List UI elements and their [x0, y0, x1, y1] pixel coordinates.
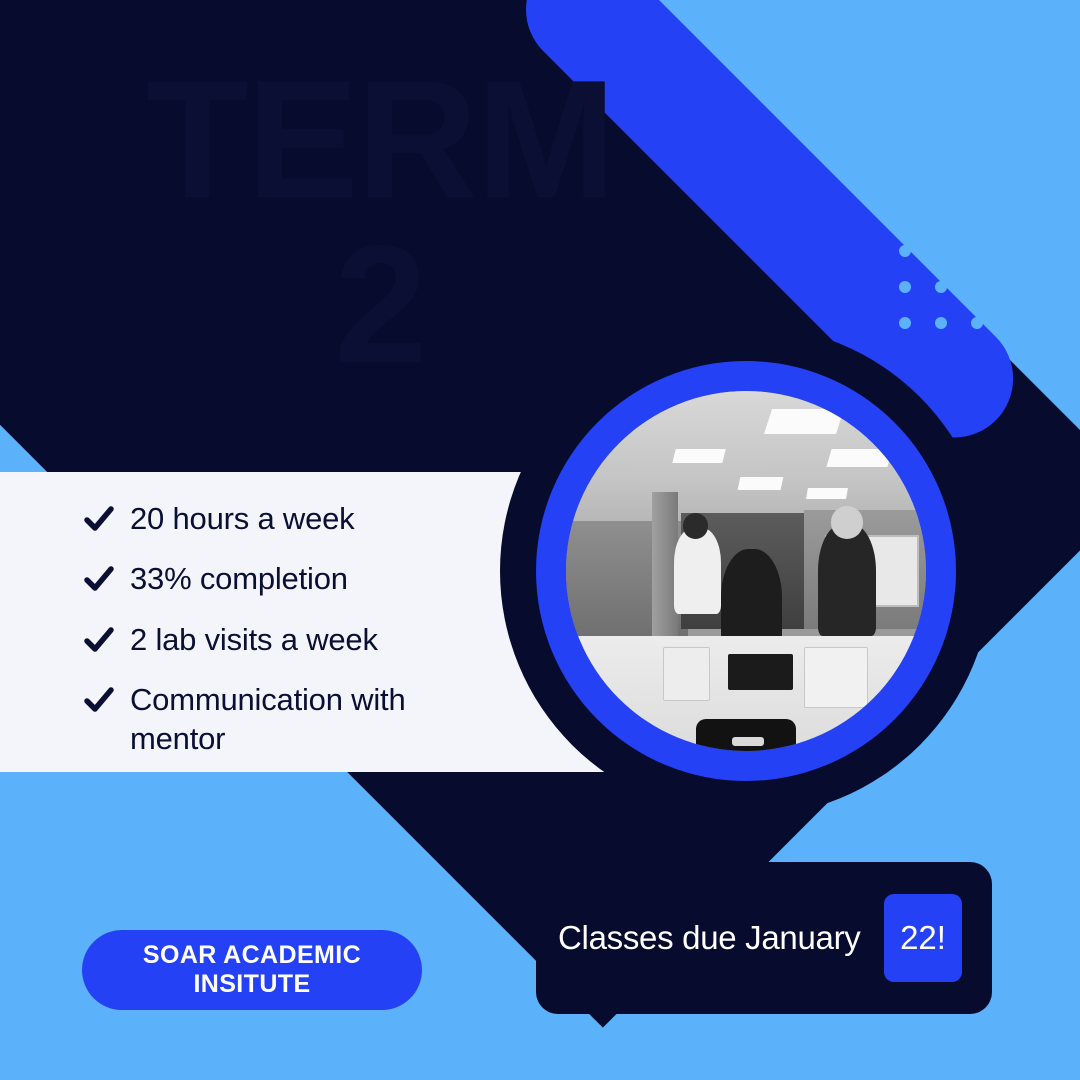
grid-dot — [971, 281, 983, 293]
grid-dot — [899, 245, 911, 257]
scene-bag — [804, 647, 869, 708]
scene-light — [737, 477, 783, 490]
scene-light — [764, 409, 844, 434]
list-item: 20 hours a week — [82, 500, 502, 538]
grid-dot — [971, 209, 983, 221]
checklist: 20 hours a week 33% completion 2 lab vis… — [82, 500, 502, 758]
grid-dot — [971, 245, 983, 257]
dot-grid-decor — [899, 209, 1043, 353]
brand-line-1: SOAR ACADEMIC — [143, 941, 361, 969]
grid-dot — [899, 281, 911, 293]
grid-dot — [1007, 245, 1019, 257]
grid-dot — [935, 245, 947, 257]
due-date-card: Classes due January 22! — [536, 862, 992, 1014]
photo-scene — [566, 391, 926, 751]
poster-canvas: TERM 2 20 hours a week 33% completion 2 … — [0, 0, 1080, 1080]
page-title: TERM 2 — [0, 62, 760, 381]
grid-dot — [899, 317, 911, 329]
scene-chair — [696, 719, 797, 751]
scene-chair-slot — [732, 737, 764, 746]
grid-dot — [1007, 317, 1019, 329]
grid-dot — [899, 209, 911, 221]
scene-person-head — [683, 513, 708, 538]
scene-light — [672, 449, 726, 463]
check-icon — [82, 623, 116, 657]
photo-outer-ring — [500, 325, 992, 817]
list-item: 33% completion — [82, 560, 502, 598]
scene-bag — [663, 647, 710, 701]
due-day-value: 22! — [884, 894, 962, 982]
grid-dot — [935, 209, 947, 221]
list-item-label: 33% completion — [130, 560, 348, 598]
brand-line-2: INSITUTE — [193, 970, 310, 998]
scene-light — [806, 488, 847, 499]
scene-person — [818, 524, 876, 636]
due-date-text: Classes due January — [536, 919, 860, 957]
check-icon — [82, 502, 116, 536]
scene-person — [674, 528, 721, 614]
list-item-label: Communication with mentor — [130, 681, 502, 758]
photo-inner-ring — [536, 361, 956, 781]
headline-term-word: TERM — [0, 62, 760, 217]
grid-dot — [1007, 209, 1019, 221]
grid-dot — [971, 317, 983, 329]
brand-pill-text: SOAR ACADEMIC INSITUTE — [143, 941, 361, 1000]
check-icon — [82, 683, 116, 717]
list-item-label: 20 hours a week — [130, 500, 354, 538]
scene-laptop — [728, 654, 793, 690]
scene-light — [826, 449, 892, 467]
list-item: 2 lab visits a week — [82, 621, 502, 659]
classroom-photo — [566, 391, 926, 751]
grid-dot — [935, 317, 947, 329]
brand-pill[interactable]: SOAR ACADEMIC INSITUTE — [82, 930, 422, 1010]
list-item: Communication with mentor — [82, 681, 502, 758]
grid-dot — [1007, 281, 1019, 293]
grid-dot — [935, 281, 947, 293]
list-item-label: 2 lab visits a week — [130, 621, 378, 659]
check-icon — [82, 562, 116, 596]
scene-person-head — [831, 506, 863, 538]
headline-term-number: 2 — [0, 227, 760, 382]
